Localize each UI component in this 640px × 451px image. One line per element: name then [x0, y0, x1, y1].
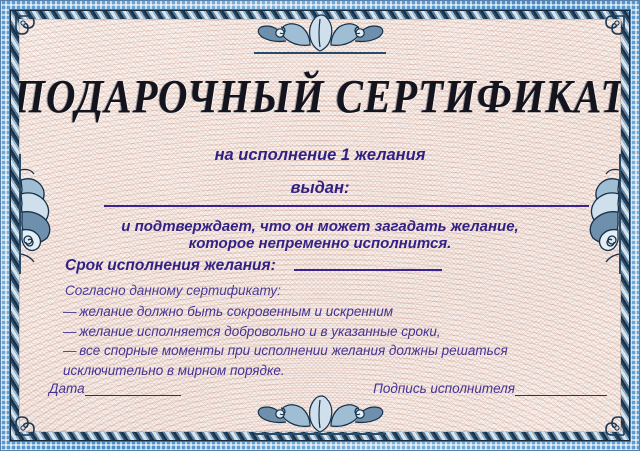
issued-to-label: выдан:	[19, 179, 621, 198]
signature-blank-line[interactable]	[515, 395, 607, 396]
clauses-heading: Согласно данному сертификату:	[65, 283, 281, 298]
clause-text: все спорные моменты при исполнении желан…	[63, 343, 508, 378]
confirmation-text: и подтверждает, что он может загадать же…	[25, 218, 615, 253]
clause-text: желание исполняется добровольно и в указ…	[79, 324, 440, 339]
clause-item: — желание должно быть сокровенным и искр…	[63, 302, 603, 322]
certificate-content: ПОДАРОЧНЫЙ СЕРТИФИКАТ на исполнение 1 же…	[19, 19, 621, 432]
clause-dash: —	[63, 324, 76, 339]
signature-field[interactable]: Подпись исполнителя	[373, 381, 607, 396]
confirmation-line-2: которое непременно исполнится.	[25, 235, 615, 252]
recipient-name-blank-line[interactable]	[104, 205, 589, 207]
clause-item: — желание исполняется добровольно и в ук…	[63, 322, 603, 342]
wish-count-text: на исполнение 1 желания	[215, 146, 426, 164]
term-row: Срок исполнения желания:	[65, 257, 442, 275]
date-label: Дата	[49, 381, 85, 396]
clause-dash: —	[63, 304, 76, 319]
term-blank-line[interactable]	[294, 269, 442, 271]
certificate-title: ПОДАРОЧНЫЙ СЕРТИФИКАТ	[19, 69, 621, 124]
term-label: Срок исполнения желания:	[65, 257, 276, 275]
clauses-list: — желание должно быть сокровенным и искр…	[63, 302, 603, 380]
gift-certificate-document: ПОДАРОЧНЫЙ СЕРТИФИКАТ на исполнение 1 же…	[0, 0, 640, 451]
clause-dash: —	[63, 343, 76, 358]
footer-row: Дата Подпись исполнителя	[49, 381, 607, 396]
signature-label: Подпись исполнителя	[373, 381, 515, 396]
date-blank-line[interactable]	[85, 395, 181, 396]
clause-item: — все спорные моменты при исполнении жел…	[63, 341, 603, 380]
wish-count-line: на исполнение 1 желания	[19, 146, 621, 165]
date-field[interactable]: Дата	[49, 381, 181, 396]
clause-text: желание должно быть сокровенным и искрен…	[79, 304, 393, 319]
confirmation-line-1: и подтверждает, что он может загадать же…	[25, 218, 615, 235]
